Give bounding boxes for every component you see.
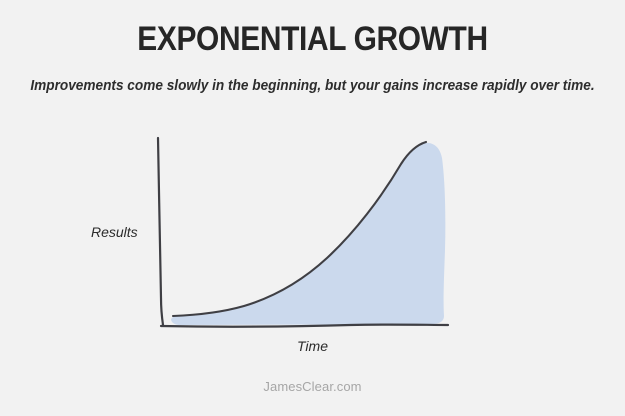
infographic-canvas: EXPONENTIAL GROWTH Improvements come slo… (0, 0, 625, 416)
page-subtitle: Improvements come slowly in the beginnin… (19, 78, 607, 94)
area-fill (171, 143, 445, 325)
exponential-growth-chart (60, 120, 560, 370)
y-axis (158, 138, 163, 325)
x-axis-label: Time (297, 338, 328, 354)
footer-attribution: JamesClear.com (0, 379, 625, 394)
chart-area: Results Time (60, 120, 560, 370)
page-title: EXPONENTIAL GROWTH (38, 20, 588, 59)
y-axis-label: Results (91, 224, 138, 240)
